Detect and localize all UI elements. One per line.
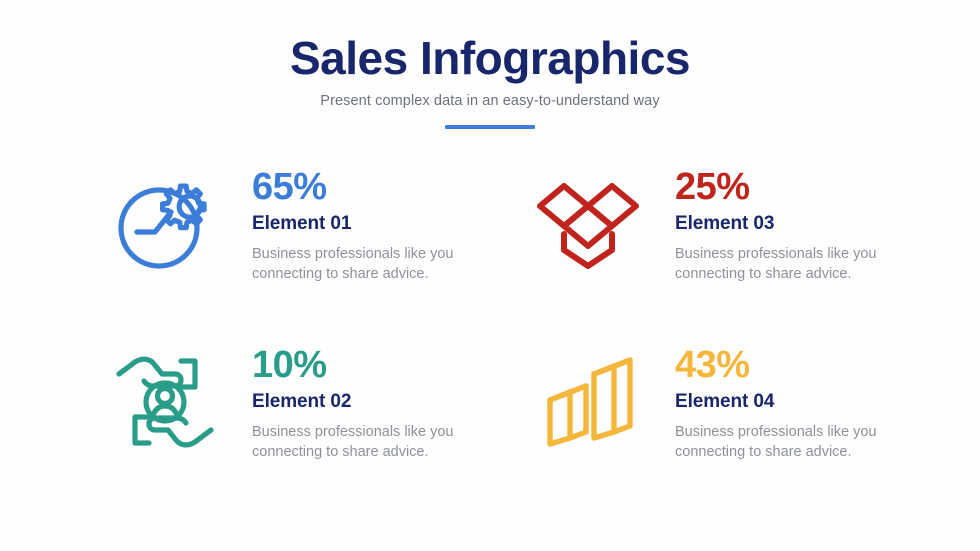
stats-grid: 65% Element 01 Business professionals li…	[0, 168, 980, 498]
stat-text-element-03: 25% Element 03 Business professionals li…	[648, 168, 948, 285]
stat-percent: 10%	[252, 346, 525, 384]
stat-block-element-04: 43% Element 04 Business professionals li…	[528, 346, 948, 496]
infographic-slide: Sales Infographics Present complex data …	[0, 0, 980, 551]
stat-percent: 65%	[252, 168, 525, 206]
dropbox-diamonds-icon	[528, 168, 648, 278]
stat-description: Business professionals like you connecti…	[675, 422, 890, 463]
stat-block-element-03: 25% Element 03 Business professionals li…	[528, 168, 948, 318]
stat-text-element-01: 65% Element 01 Business professionals li…	[225, 168, 525, 285]
stat-description: Business professionals like you connecti…	[252, 244, 467, 285]
stat-heading: Element 03	[675, 214, 948, 235]
stat-block-element-01: 65% Element 01 Business professionals li…	[105, 168, 525, 318]
stat-description: Business professionals like you connecti…	[252, 422, 467, 463]
title-underline-rule	[445, 125, 535, 129]
bar-chart-3d-icon	[528, 346, 648, 456]
stat-block-element-02: 10% Element 02 Business professionals li…	[105, 346, 525, 496]
clock-gear-icon	[105, 168, 225, 278]
stat-heading: Element 04	[675, 392, 948, 413]
stat-text-element-04: 43% Element 04 Business professionals li…	[648, 346, 948, 463]
stat-heading: Element 02	[252, 392, 525, 413]
stat-heading: Element 01	[252, 214, 525, 235]
stat-percent: 43%	[675, 346, 948, 384]
stat-percent: 25%	[675, 168, 948, 206]
slide-header: Sales Infographics Present complex data …	[0, 34, 980, 129]
page-title: Sales Infographics	[0, 34, 980, 82]
page-subtitle: Present complex data in an easy-to-under…	[0, 93, 980, 109]
stat-text-element-02: 10% Element 02 Business professionals li…	[225, 346, 525, 463]
hands-holding-person-icon	[105, 346, 225, 456]
stat-description: Business professionals like you connecti…	[675, 244, 890, 285]
